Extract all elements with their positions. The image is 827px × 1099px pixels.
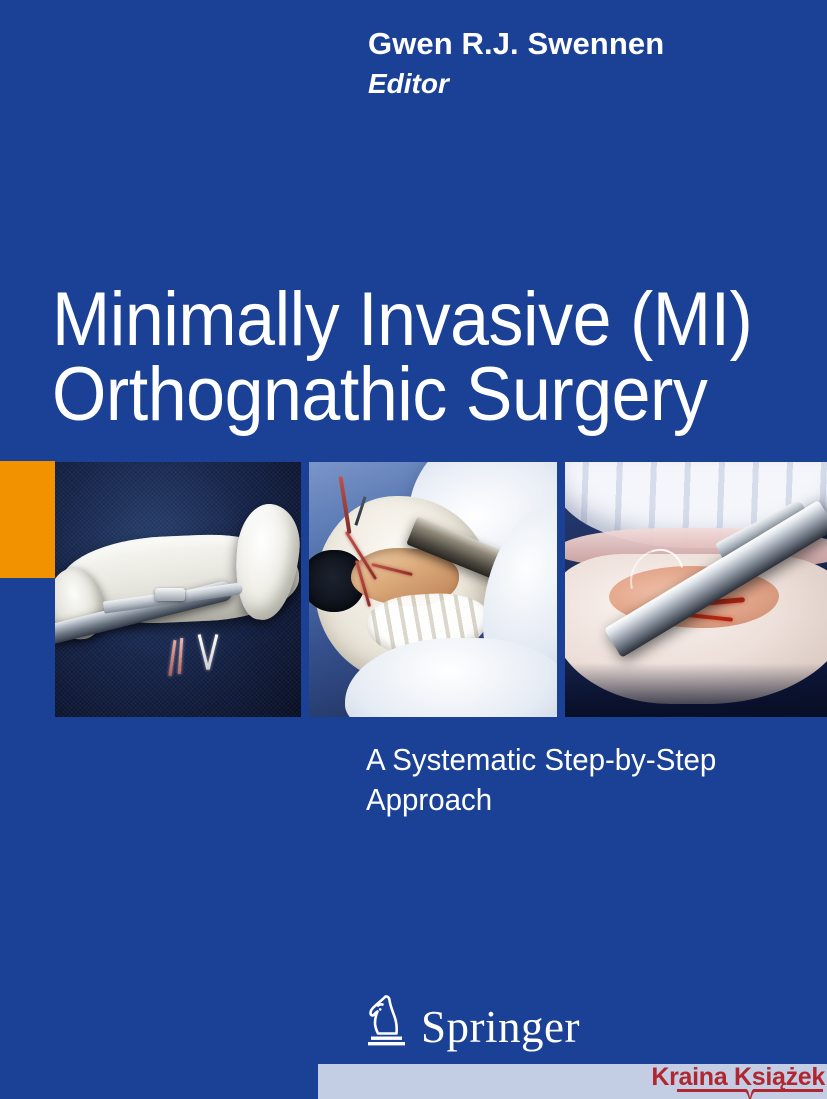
open-book-icon bbox=[677, 1089, 823, 1099]
cover-photo-band bbox=[55, 462, 827, 717]
title-line-1: Minimally Invasive (MI) bbox=[52, 282, 751, 357]
photo-vignette bbox=[565, 663, 827, 717]
fixation-plate bbox=[155, 588, 185, 601]
publisher-name: Springer bbox=[421, 1005, 580, 1050]
author-name: Gwen R.J. Swennen bbox=[368, 28, 788, 61]
author-role: Editor bbox=[368, 69, 788, 98]
cover-photo-bone-specimen bbox=[55, 462, 301, 717]
watermark: Kraina Książek bbox=[625, 1065, 825, 1099]
orange-accent-block bbox=[0, 461, 55, 578]
subtitle-line-1: A Systematic Step-by-Step bbox=[366, 740, 765, 780]
title-line-2: Orthognathic Surgery bbox=[52, 357, 751, 432]
springer-knight-icon bbox=[365, 992, 409, 1046]
subtitle: A Systematic Step-by-Step Approach bbox=[366, 740, 786, 819]
subtitle-line-2: Approach bbox=[366, 780, 765, 820]
watermark-text: Kraina Książek bbox=[625, 1065, 825, 1090]
author-block: Gwen R.J. Swennen Editor bbox=[368, 28, 788, 98]
book-cover: Gwen R.J. Swennen Editor Minimally Invas… bbox=[0, 0, 827, 1099]
cover-photo-intraoral bbox=[565, 462, 827, 717]
publisher-logo: Springer bbox=[365, 992, 580, 1046]
bottom-bar: Kraina Książek bbox=[318, 1064, 827, 1099]
cover-photo-skull-model bbox=[309, 462, 557, 717]
page-title: Minimally Invasive (MI) Orthognathic Sur… bbox=[52, 282, 812, 432]
